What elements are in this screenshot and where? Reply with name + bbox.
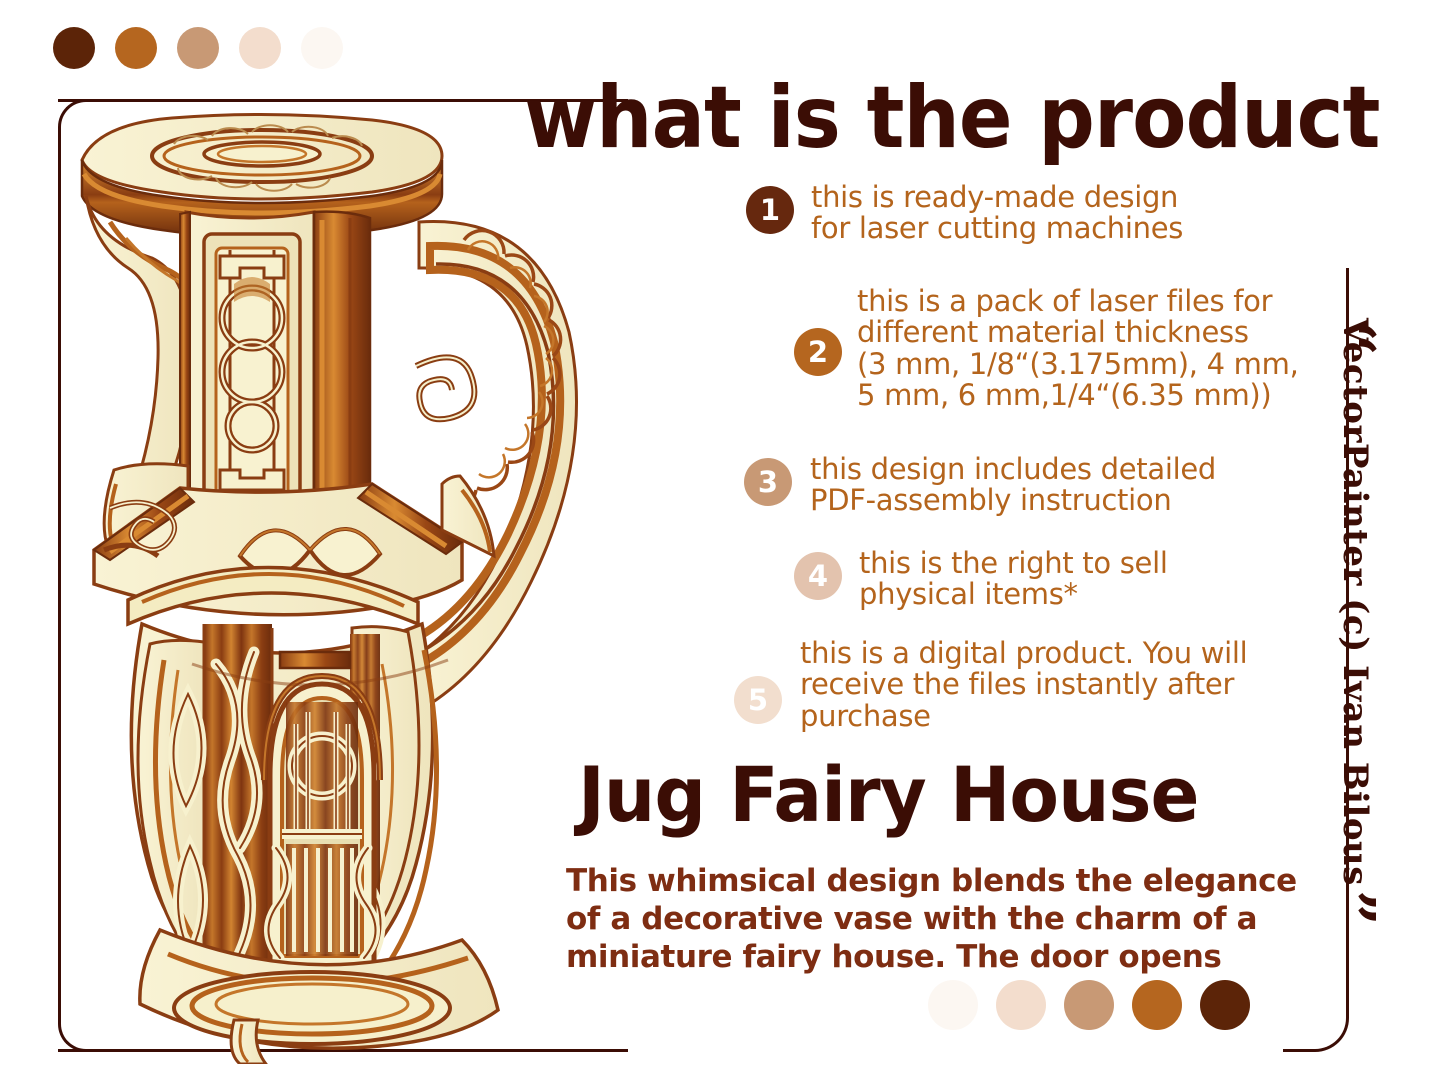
palette-top-left <box>53 27 343 69</box>
palette-swatch <box>53 27 95 69</box>
jug-door <box>264 652 380 966</box>
palette-swatch <box>1064 980 1114 1030</box>
palette-swatch <box>177 27 219 69</box>
palette-swatch <box>1132 980 1182 1030</box>
watermark-credit: VectorPainter (c) Ivan Bilous <box>1335 318 1375 878</box>
palette-swatch <box>115 27 157 69</box>
feature-item-4: 4 this is the right to sell physical ite… <box>794 552 1168 611</box>
quote-close-icon: ” <box>1321 890 1383 926</box>
feature-item-5: 5 this is a digital product. You will re… <box>734 642 1247 732</box>
jug-handle <box>413 221 577 714</box>
feature-badge-2: 2 <box>794 328 842 376</box>
neck-openwork-panel <box>204 234 300 512</box>
palette-swatch <box>996 980 1046 1030</box>
product-description: This whimsical design blends the eleganc… <box>566 863 1326 976</box>
palette-swatch <box>239 27 281 69</box>
feature-text-3: this design includes detailed PDF-assemb… <box>810 454 1216 517</box>
feature-badge-5: 5 <box>734 676 782 724</box>
product-title: Jug Fairy House <box>578 750 1199 839</box>
palette-swatch <box>928 980 978 1030</box>
feature-text-1: this is ready-made design for laser cutt… <box>811 182 1183 245</box>
jug-fairy-house-illustration <box>64 104 624 1064</box>
feature-text-5: this is a digital product. You will rece… <box>800 638 1247 732</box>
feature-item-3: 3 this design includes detailed PDF-asse… <box>744 458 1216 517</box>
palette-bottom-right <box>928 980 1250 1030</box>
feature-text-2: this is a pack of laser files for differ… <box>857 286 1299 411</box>
feature-item-1: 1 this is ready-made design for laser cu… <box>746 186 1183 245</box>
palette-swatch <box>301 27 343 69</box>
page-title: what is the product <box>524 78 1334 160</box>
feature-item-2: 2 this is a pack of laser files for diff… <box>794 290 1299 411</box>
feature-badge-3: 3 <box>744 458 792 506</box>
feature-badge-4: 4 <box>794 552 842 600</box>
feature-badge-1: 1 <box>746 186 794 234</box>
left-frame-top-rule <box>58 99 473 102</box>
feature-text-4: this is the right to sell physical items… <box>859 548 1168 611</box>
palette-swatch <box>1200 980 1250 1030</box>
